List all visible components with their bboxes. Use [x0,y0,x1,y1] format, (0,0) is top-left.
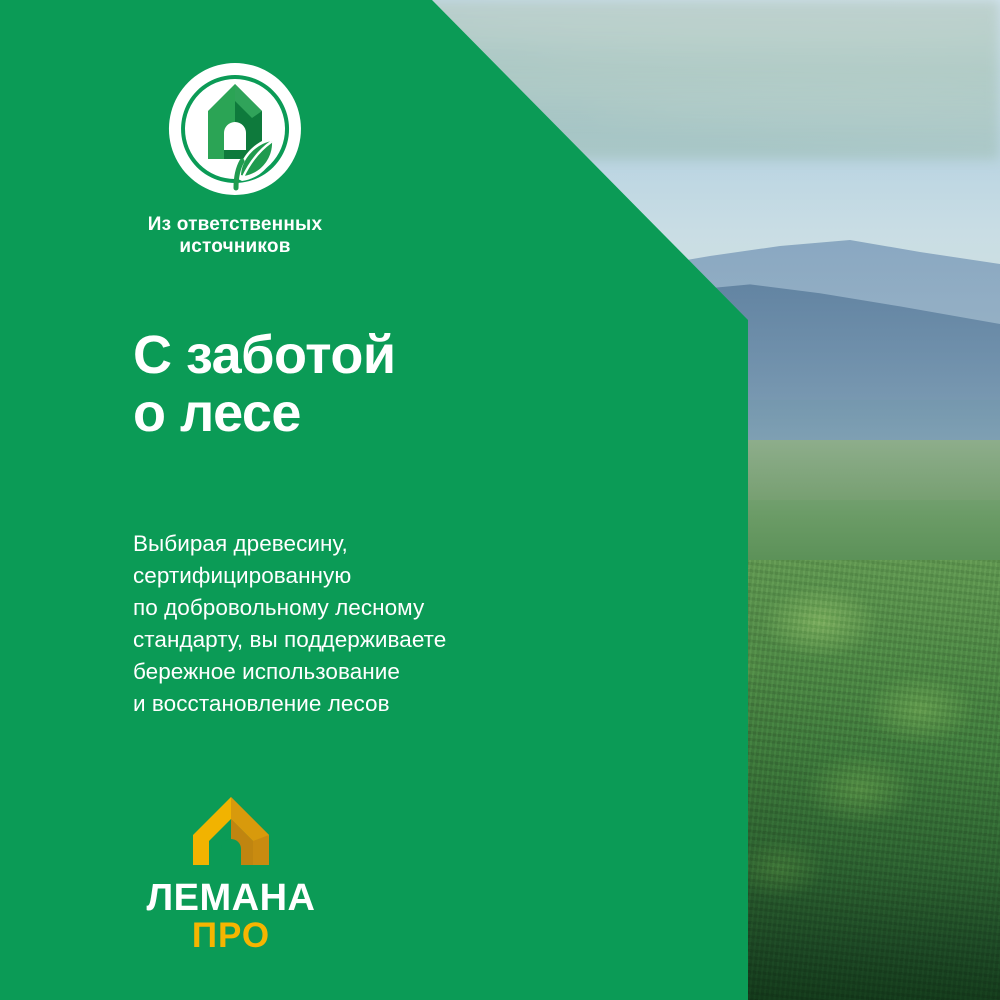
responsible-sources-icon [164,58,306,200]
poster-canvas: Из ответственных источников С заботой о … [0,0,1000,1000]
brand-name-primary: ЛЕМАНА [147,877,316,919]
brand-logo: ЛЕМАНА ПРО [133,795,329,951]
lemana-house-icon [185,795,277,867]
body-paragraph: Выбирая древесину, сертифицированную по … [133,528,446,720]
brand-name-secondary: ПРО [192,916,270,951]
certification-caption: Из ответственных источников [130,214,340,259]
lemana-pro-wordmark: ЛЕМАНА ПРО [133,873,329,951]
page-title: С заботой о лесе [133,326,396,443]
content-layer: Из ответственных источников С заботой о … [0,0,1000,1000]
certification-badge: Из ответственных источников [130,58,340,259]
